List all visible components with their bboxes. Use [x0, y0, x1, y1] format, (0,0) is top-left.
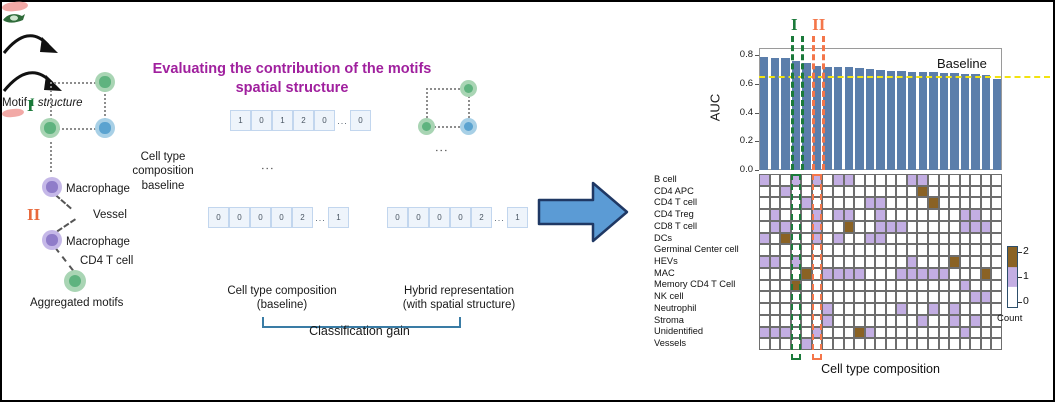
arrow-baseline-label-line-0: Cell type	[122, 150, 204, 164]
heatmap-cell-r13-c21	[981, 327, 992, 339]
vector-motif-i-structure-cell-4: 0	[314, 110, 335, 131]
heatmap-cell-r9-c6	[822, 280, 833, 292]
auc-ytickmark-4	[755, 55, 759, 56]
colorbar-tick-0: 2	[1023, 245, 1029, 257]
heatmap-cell-r9-c1	[770, 280, 781, 292]
arrow-baseline-label: Cell typecompositionbaseline	[122, 150, 204, 193]
heatmap-cell-r3-c2	[780, 209, 791, 221]
motif-i-node-green-top-core	[99, 76, 110, 87]
heatmap-cell-r2-c2	[780, 197, 791, 209]
heatmap-cell-r11-c7	[833, 303, 844, 315]
heatmap-cell-r5-c7	[833, 233, 844, 245]
heatmap-cell-r6-c15	[917, 244, 928, 256]
heatmap-cell-r13-c4	[801, 327, 812, 339]
macrophage-1	[42, 177, 62, 197]
heatmap-cell-r10-c21	[981, 291, 992, 303]
heatmap-cell-r2-c14	[907, 197, 918, 209]
heatmap-cell-r2-c11	[875, 197, 886, 209]
heatmap-cell-r10-c16	[928, 291, 939, 303]
heatmap-cell-r1-c9	[854, 186, 865, 198]
heatmap-cell-r1-c22	[991, 186, 1002, 198]
heatmap-cell-r2-c6	[822, 197, 833, 209]
heatmap-cell-r5-c10	[865, 233, 876, 245]
motif-i-node-blue	[95, 118, 115, 138]
heatmap-row-label-5: DCs	[654, 233, 759, 243]
heatmap-cell-r10-c9	[854, 291, 865, 303]
heatmap-cell-r4-c7	[833, 221, 844, 233]
label-cd4-t-cell: CD4 T cell	[80, 255, 133, 267]
motif-i-roman-label: I	[27, 96, 34, 116]
heatmap-cell-r11-c13	[896, 303, 907, 315]
heatmap-cell-r2-c15	[917, 197, 928, 209]
heatmap-cell-r8-c10	[865, 268, 876, 280]
heatmap-cell-r5-c20	[970, 233, 981, 245]
heatmap-cell-r6-c7	[833, 244, 844, 256]
heatmap-cell-r6-c14	[907, 244, 918, 256]
marker-i-line-right	[801, 36, 804, 170]
heatmap-cell-r9-c15	[917, 280, 928, 292]
vector-vdots-right: ⋮	[434, 144, 449, 159]
heatmap-cell-r0-c13	[896, 174, 907, 186]
heatmap-cell-r1-c10	[865, 186, 876, 198]
heatmap-cell-r0-c4	[801, 174, 812, 186]
auc-bar-14	[908, 72, 916, 170]
heatmap-cell-r4-c18	[949, 221, 960, 233]
heatmap-cell-r11-c18	[949, 303, 960, 315]
heatmap-cell-r7-c1	[770, 256, 781, 268]
auc-ytickmark-2	[755, 113, 759, 114]
vector-hybrid-representation-ellipsis: ...	[492, 213, 507, 223]
heatmap-cell-r6-c17	[939, 244, 950, 256]
heatmap-cell-r4-c6	[822, 221, 833, 233]
heatmap-cell-r0-c9	[854, 174, 865, 186]
classification-gain-label: Classification gain	[262, 324, 457, 340]
motif-i-struct-node-green-top	[460, 80, 477, 97]
motif-i-node-green-bottom-core	[44, 122, 55, 133]
heatmap-cell-r11-c12	[886, 303, 897, 315]
vector-motif-i-structure-cell-5: 0	[350, 110, 371, 131]
auc-ytick-1: 0.2	[727, 135, 753, 146]
heatmap-cell-r9-c0	[759, 280, 770, 292]
heatmap-cell-r12-c9	[854, 315, 865, 327]
colorbar-tickmark-2	[1018, 302, 1022, 303]
vessel-glyph-motif-ii	[2, 11, 26, 23]
heatmap-cell-r10-c17	[939, 291, 950, 303]
heatmap-cell-r10-c7	[833, 291, 844, 303]
heatmap-cell-r3-c15	[917, 209, 928, 221]
heatmap-cell-r7-c22	[991, 256, 1002, 268]
heatmap-cell-r14-c16	[928, 338, 939, 350]
heatmap-cell-r11-c15	[917, 303, 928, 315]
arrow-baseline-label-line-1: composition	[122, 164, 204, 178]
heatmap-cell-r0-c22	[991, 174, 1002, 186]
heatmap-cell-r8-c20	[970, 268, 981, 280]
heatmap-cell-r14-c15	[917, 338, 928, 350]
heatmap-cell-r6-c4	[801, 244, 812, 256]
auc-ytickmark-0	[755, 170, 759, 171]
heatmap-cell-r11-c19	[960, 303, 971, 315]
heatmap-cell-r13-c12	[886, 327, 897, 339]
motif-i-node-green-top	[95, 72, 115, 92]
colorbar	[1007, 246, 1018, 308]
heatmap-cell-r11-c6	[822, 303, 833, 315]
heatmap-cell-r8-c21	[981, 268, 992, 280]
auc-bar-18	[950, 73, 958, 170]
heatmap-cell-r7-c15	[917, 256, 928, 268]
heatmap-cell-r13-c16	[928, 327, 939, 339]
heatmap-cell-r0-c20	[970, 174, 981, 186]
caption-hybrid: Hybrid representation(with spatial struc…	[374, 284, 544, 313]
vector-hybrid-representation: 00002...1	[387, 207, 528, 228]
vector-motif-i-structure-ellipsis: ...	[335, 116, 350, 126]
heatmap-cell-r9-c14	[907, 280, 918, 292]
heatmap-cell-r11-c0	[759, 303, 770, 315]
heatmap-cell-r7-c4	[801, 256, 812, 268]
heatmap-row-label-9: Memory CD4 T Cell	[654, 279, 759, 289]
heatmap-cell-r4-c9	[854, 221, 865, 233]
heatmap-cell-r2-c19	[960, 197, 971, 209]
heatmap-cell-r13-c11	[875, 327, 886, 339]
heatmap-cell-r2-c10	[865, 197, 876, 209]
heatmap-cell-r4-c22	[991, 221, 1002, 233]
heatmap-cell-r14-c21	[981, 338, 992, 350]
heatmap-cell-r3-c12	[886, 209, 897, 221]
auc-bar-16	[929, 72, 937, 170]
heatmap-cell-r0-c18	[949, 174, 960, 186]
heatmap-cell-r4-c2	[780, 221, 791, 233]
heatmap-cell-r12-c7	[833, 315, 844, 327]
heatmap-cell-r14-c11	[875, 338, 886, 350]
heatmap-cell-r10-c20	[970, 291, 981, 303]
heatmap-cell-r7-c13	[896, 256, 907, 268]
vector-hybrid-representation-cell-2: 0	[429, 207, 450, 228]
heatmap-cell-r7-c2	[780, 256, 791, 268]
heatmap-cell-r14-c20	[970, 338, 981, 350]
heatmap-cell-r14-c22	[991, 338, 1002, 350]
heatmap-cell-r8-c16	[928, 268, 939, 280]
heatmap-row-label-14: Vessels	[654, 338, 759, 348]
vector-cell-type-composition-cell-1: 0	[229, 207, 250, 228]
label-macrophage-1: Macrophage	[66, 183, 130, 195]
heatmap-cell-r2-c21	[981, 197, 992, 209]
heatmap-cell-r12-c11	[875, 315, 886, 327]
figure-title-line2: spatial structure	[132, 79, 452, 98]
heatmap-cell-r13-c13	[896, 327, 907, 339]
heatmap-cell-r5-c0	[759, 233, 770, 245]
heatmap-cell-r8-c0	[759, 268, 770, 280]
heatmap-cell-r6-c18	[949, 244, 960, 256]
heatmap-cell-r8-c13	[896, 268, 907, 280]
heatmap-cell-r14-c4	[801, 338, 812, 350]
heatmap-cell-r6-c2	[780, 244, 791, 256]
heatmap-cell-r0-c19	[960, 174, 971, 186]
heatmap-row-label-0: B cell	[654, 174, 759, 184]
caption-hybrid-line2: (with spatial structure)	[374, 298, 544, 312]
vector-vdots-left: ⋮	[260, 162, 275, 177]
heatmap-row-label-1: CD4 APC	[654, 186, 759, 196]
heatmap-cell-r7-c9	[854, 256, 865, 268]
auc-bar-1	[771, 58, 779, 170]
auc-ytick-4: 0.8	[727, 49, 753, 60]
heatmap-cell-r10-c6	[822, 291, 833, 303]
heatmap-cell-r0-c15	[917, 174, 928, 186]
heatmap-cell-r6-c6	[822, 244, 833, 256]
heatmap-cell-r14-c12	[886, 338, 897, 350]
cd4-t-cell-core	[69, 275, 81, 287]
heatmap-cell-r13-c9	[854, 327, 865, 339]
heatmap-cell-r12-c20	[970, 315, 981, 327]
heatmap-cell-r11-c9	[854, 303, 865, 315]
heatmap-cell-r1-c2	[780, 186, 791, 198]
heatmap-cell-r0-c11	[875, 174, 886, 186]
heatmap-cell-r9-c21	[981, 280, 992, 292]
heatmap-cell-r14-c2	[780, 338, 791, 350]
heatmap-cell-r2-c9	[854, 197, 865, 209]
vector-motif-i-structure-cell-2: 1	[272, 110, 293, 131]
heatmap-cell-r2-c0	[759, 197, 770, 209]
heatmap-cell-r11-c8	[844, 303, 855, 315]
heatmap-cell-r9-c20	[970, 280, 981, 292]
big-right-arrow	[537, 180, 629, 244]
heatmap-cell-r2-c1	[770, 197, 781, 209]
motif-structure-suffix: structure	[35, 97, 83, 109]
heatmap-cell-r12-c12	[886, 315, 897, 327]
heatmap-cell-r5-c22	[991, 233, 1002, 245]
heatmap-cell-r2-c12	[886, 197, 897, 209]
heatmap-cell-r2-c22	[991, 197, 1002, 209]
heatmap-cell-r4-c10	[865, 221, 876, 233]
heatmap-cell-r2-c8	[844, 197, 855, 209]
heatmap-cell-r9-c17	[939, 280, 950, 292]
heatmap-cell-r6-c19	[960, 244, 971, 256]
macrophage-2	[42, 230, 62, 250]
heatmap-cell-r12-c19	[960, 315, 971, 327]
heatmap-cell-r7-c18	[949, 256, 960, 268]
colorbar-title: Count	[997, 313, 1022, 324]
heatmap-cell-r12-c16	[928, 315, 939, 327]
heatmap-cell-r5-c21	[981, 233, 992, 245]
motif-i-struct-node-green-bottom-core	[422, 122, 432, 132]
heatmap-cell-r10-c12	[886, 291, 897, 303]
heatmap-cell-r12-c18	[949, 315, 960, 327]
heatmap-cell-r13-c8	[844, 327, 855, 339]
marker-i-box	[791, 174, 802, 360]
auc-bar-9	[855, 68, 863, 170]
heatmap-cell-r3-c10	[865, 209, 876, 221]
heatmap-cell-r3-c11	[875, 209, 886, 221]
auc-axis-title: AUC	[708, 88, 723, 128]
heatmap-cell-r12-c8	[844, 315, 855, 327]
figure-title: Evaluating the contribution of the motif…	[132, 60, 452, 98]
heatmap-row-label-12: Stroma	[654, 315, 759, 325]
heatmap-cell-r12-c17	[939, 315, 950, 327]
heatmap-cell-r3-c18	[949, 209, 960, 221]
heatmap-cell-r2-c20	[970, 197, 981, 209]
heatmap-cell-r14-c0	[759, 338, 770, 350]
heatmap-cell-r2-c18	[949, 197, 960, 209]
heatmap-cell-r5-c8	[844, 233, 855, 245]
macrophage-1-core	[46, 181, 57, 192]
heatmap-cell-r8-c17	[939, 268, 950, 280]
heatmap-cell-r14-c6	[822, 338, 833, 350]
heatmap-cell-r8-c9	[854, 268, 865, 280]
heatmap-cell-r9-c18	[949, 280, 960, 292]
heatmap-cell-r0-c7	[833, 174, 844, 186]
heatmap-cell-r5-c13	[896, 233, 907, 245]
arrow-baseline-label-line-2: baseline	[122, 179, 204, 193]
caption-baseline-line1: Cell type composition	[202, 284, 362, 298]
heatmap-cell-r9-c2	[780, 280, 791, 292]
motif-i-node-blue-core	[99, 122, 110, 133]
heatmap-cell-r0-c12	[886, 174, 897, 186]
heatmap-cell-r7-c17	[939, 256, 950, 268]
heatmap-cell-r14-c19	[960, 338, 971, 350]
heatmap-cell-r11-c1	[770, 303, 781, 315]
heatmap-cell-r6-c8	[844, 244, 855, 256]
heatmap-cell-r5-c1	[770, 233, 781, 245]
heatmap-cell-r14-c7	[833, 338, 844, 350]
heatmap-cell-r9-c8	[844, 280, 855, 292]
motif-ii-edge-1	[55, 194, 72, 209]
vector-motif-i-structure-cell-3: 2	[293, 110, 314, 131]
heatmap-cell-r8-c18	[949, 268, 960, 280]
heatmap-cell-r11-c20	[970, 303, 981, 315]
heatmap-cell-r7-c14	[907, 256, 918, 268]
colorbar-tick-2: 0	[1023, 295, 1029, 307]
heatmap-cell-r11-c14	[907, 303, 918, 315]
label-vessel: Vessel	[93, 209, 127, 221]
vector-cell-type-composition: 00002...1	[208, 207, 349, 228]
macrophage-2-core	[46, 234, 57, 245]
heatmap-cell-r9-c11	[875, 280, 886, 292]
heatmap-cell-r10-c0	[759, 291, 770, 303]
heatmap-cell-r13-c17	[939, 327, 950, 339]
arrow-baseline	[2, 23, 60, 59]
heatmap-cell-r8-c15	[917, 268, 928, 280]
motif-ii-edge-2	[57, 218, 76, 232]
heatmap-cell-r8-c8	[844, 268, 855, 280]
heatmap-cell-r6-c11	[875, 244, 886, 256]
heatmap-cell-r3-c6	[822, 209, 833, 221]
heatmap-cell-r3-c20	[970, 209, 981, 221]
heatmap-cell-r1-c4	[801, 186, 812, 198]
colorbar-tickmark-1	[1018, 277, 1022, 278]
marker-i-roman-label: I	[791, 15, 798, 35]
vector-hybrid-representation-cell-4: 2	[471, 207, 492, 228]
heatmap-cell-r8-c11	[875, 268, 886, 280]
heatmap-cell-r14-c17	[939, 338, 950, 350]
heatmap-cell-r10-c18	[949, 291, 960, 303]
heatmap-cell-r12-c13	[896, 315, 907, 327]
heatmap-cell-r10-c13	[896, 291, 907, 303]
heatmap-cell-r7-c20	[970, 256, 981, 268]
heatmap-cell-r13-c22	[991, 327, 1002, 339]
heatmap-cell-r0-c10	[865, 174, 876, 186]
heatmap-cell-r6-c9	[854, 244, 865, 256]
heatmap-cell-r7-c10	[865, 256, 876, 268]
heatmap-cell-r5-c6	[822, 233, 833, 245]
heatmap-cell-r13-c19	[960, 327, 971, 339]
heatmap-cell-r11-c17	[939, 303, 950, 315]
heatmap-cell-r8-c22	[991, 268, 1002, 280]
heatmap-cell-r1-c14	[907, 186, 918, 198]
heatmap-cell-r4-c14	[907, 221, 918, 233]
vector-cell-type-composition-ellipsis: ...	[313, 213, 328, 223]
auc-ytick-2: 0.4	[727, 107, 753, 118]
heatmap-cell-r13-c18	[949, 327, 960, 339]
heatmap-cell-r1-c18	[949, 186, 960, 198]
auc-bar-12	[887, 71, 895, 170]
vector-cell-type-composition-cell-5: 1	[328, 207, 349, 228]
heatmap-cell-r10-c19	[960, 291, 971, 303]
motif-i-struct-node-blue-core	[464, 122, 474, 132]
heatmap-cell-r4-c0	[759, 221, 770, 233]
auc-bar-20	[971, 74, 979, 170]
heatmap-cell-r4-c1	[770, 221, 781, 233]
heatmap-cell-r13-c2	[780, 327, 791, 339]
heatmap-cell-r10-c1	[770, 291, 781, 303]
vector-motif-i-structure-cell-1: 0	[251, 110, 272, 131]
heatmap-cell-r5-c19	[960, 233, 971, 245]
heatmap-cell-r1-c0	[759, 186, 770, 198]
motif-connector-dots	[50, 142, 52, 172]
heatmap-cell-r5-c2	[780, 233, 791, 245]
motif-i-node-green-bottom	[40, 118, 60, 138]
heatmap-cell-r0-c14	[907, 174, 918, 186]
heatmap-cell-r7-c7	[833, 256, 844, 268]
heatmap-cell-r14-c14	[907, 338, 918, 350]
heatmap-cell-r0-c8	[844, 174, 855, 186]
heatmap-cell-r2-c13	[896, 197, 907, 209]
heatmap-cell-r13-c0	[759, 327, 770, 339]
auc-bar-7	[834, 67, 842, 170]
heatmap-row-label-8: MAC	[654, 268, 759, 278]
heatmap-cell-r5-c18	[949, 233, 960, 245]
heatmap-row-label-2: CD4 T cell	[654, 197, 759, 207]
heatmap-cell-r4-c19	[960, 221, 971, 233]
cd4-t-cell	[64, 270, 86, 292]
heatmap-row-label-4: CD8 T cell	[654, 221, 759, 231]
heatmap-cell-r6-c1	[770, 244, 781, 256]
heatmap-cell-r9-c7	[833, 280, 844, 292]
heatmap-cell-r2-c16	[928, 197, 939, 209]
heatmap-cell-r12-c0	[759, 315, 770, 327]
vector-hybrid-representation-cell-5: 1	[507, 207, 528, 228]
heatmap-cell-r8-c7	[833, 268, 844, 280]
auc-ytickmark-1	[755, 141, 759, 142]
heatmap-cell-r1-c7	[833, 186, 844, 198]
heatmap-cell-r0-c6	[822, 174, 833, 186]
heatmap-cell-r3-c0	[759, 209, 770, 221]
heatmap-cell-r3-c17	[939, 209, 950, 221]
heatmap-cell-r13-c10	[865, 327, 876, 339]
heatmap-cell-r5-c11	[875, 233, 886, 245]
heatmap-cell-r12-c2	[780, 315, 791, 327]
heatmap-cell-r12-c1	[770, 315, 781, 327]
heatmap-cell-r3-c22	[991, 209, 1002, 221]
motif-i-struct-node-green-top-core	[464, 84, 474, 94]
heatmap-cell-r3-c21	[981, 209, 992, 221]
heatmap-cell-r9-c9	[854, 280, 865, 292]
heatmap-cell-r1-c1	[770, 186, 781, 198]
heatmap-cell-r6-c22	[991, 244, 1002, 256]
vector-hybrid-representation-cell-1: 0	[408, 207, 429, 228]
heatmap-xaxis-title: Cell type composition	[729, 362, 1032, 376]
heatmap-cell-r5-c14	[907, 233, 918, 245]
heatmap-cell-r8-c2	[780, 268, 791, 280]
heatmap-cell-r14-c9	[854, 338, 865, 350]
heatmap-row-label-10: NK cell	[654, 291, 759, 301]
